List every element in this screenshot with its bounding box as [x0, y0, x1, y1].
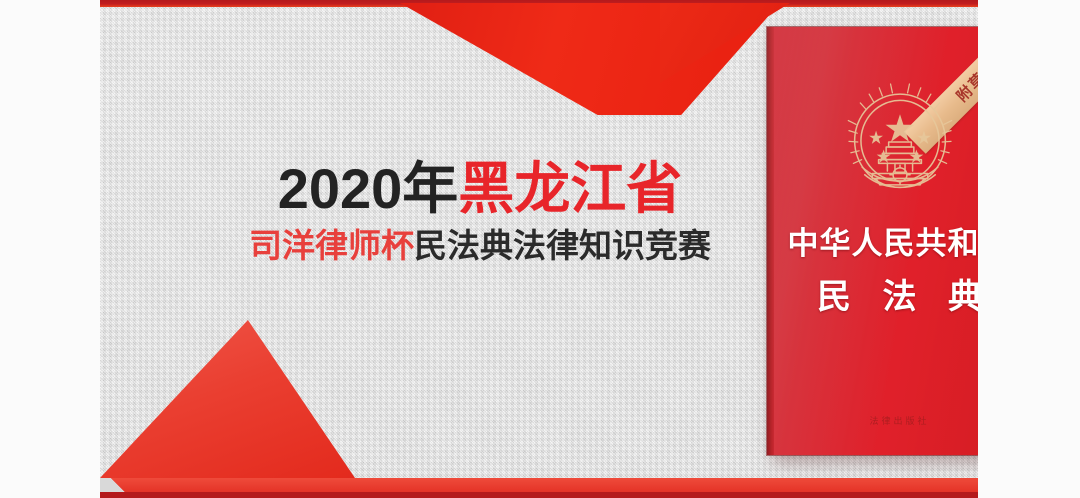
bottom-red-rule — [100, 492, 978, 498]
headline-event: 民法典法律知识竞赛 — [414, 227, 711, 264]
civil-code-book: 附草案说明 — [767, 27, 978, 455]
bottom-red-band — [100, 478, 978, 492]
bottom-band-notch — [100, 478, 134, 492]
book-publisher: 法律出版社 — [767, 414, 978, 427]
book-title-sub: 民 法 典 — [767, 276, 978, 319]
headline-year: 2020年 — [278, 157, 459, 220]
headline-sponsor: 司洋律师杯 — [249, 227, 414, 264]
headline-line-secondary: 司洋律师杯民法典法律知识竞赛 — [220, 227, 740, 265]
bottom-red-triangle — [100, 320, 355, 478]
poster-canvas: 2020年黑龙江省 司洋律师杯民法典法律知识竞赛 附草案说明 — [0, 0, 1080, 498]
poster-card: 2020年黑龙江省 司洋律师杯民法典法律知识竞赛 附草案说明 — [100, 0, 978, 498]
headline-line-primary: 2020年黑龙江省 — [220, 160, 740, 219]
headline-block: 2020年黑龙江省 司洋律师杯民法典法律知识竞赛 — [220, 160, 740, 265]
book-title-main: 中华人民共和国 — [767, 225, 978, 264]
national-emblem-icon — [837, 79, 963, 205]
book-title-block: 中华人民共和国 民 法 典 — [767, 225, 978, 318]
headline-province: 黑龙江省 — [458, 157, 682, 220]
